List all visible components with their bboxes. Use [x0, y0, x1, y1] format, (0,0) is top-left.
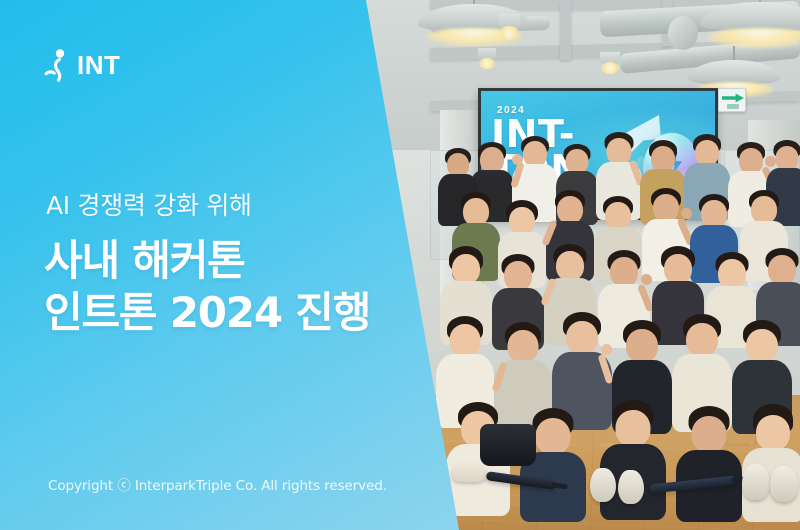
copyright-text: Copyright ⓒ InterparkTriple Co. All righ… — [48, 474, 387, 494]
ceiling-beam — [560, 0, 571, 60]
light-bulb — [479, 58, 495, 69]
shoe — [770, 466, 798, 502]
kicker-text: AI 경쟁력 강화 위해 — [46, 186, 252, 222]
shoe — [618, 470, 644, 504]
pendant-lamp — [688, 46, 780, 94]
shoe — [452, 462, 486, 482]
int-person-mark-icon — [44, 48, 70, 82]
shoe — [590, 468, 616, 502]
umbrella — [486, 471, 557, 490]
light-bulb — [499, 26, 519, 40]
light-bulb — [601, 62, 619, 74]
backpack — [480, 424, 536, 466]
page-title: 사내 해커톤 인트톤 2024 진행 — [44, 235, 370, 339]
brand-logo[interactable]: INT — [44, 48, 120, 82]
umbrella — [650, 476, 736, 494]
poster-canvas: 2024 INT- TON 인트파크트리플 사내 해커톤 — [0, 0, 800, 530]
brand-logo-text: INT — [77, 52, 120, 78]
exit-arrow-icon — [718, 88, 746, 112]
shoe — [742, 464, 770, 500]
ceiling-duct-elbow — [668, 16, 698, 50]
